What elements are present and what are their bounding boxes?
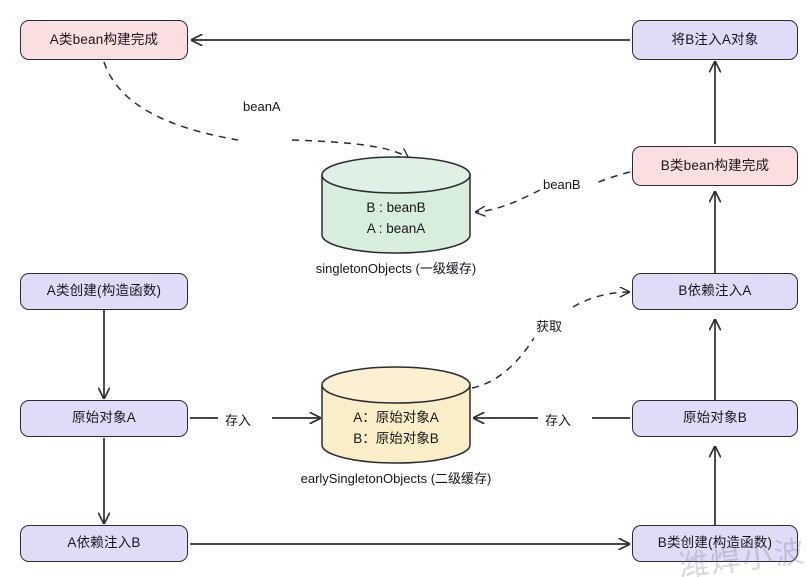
node-a-inject-b-label: A依赖注入B	[67, 535, 140, 551]
edge-beana-dash-seg1	[104, 62, 238, 140]
edge-fetch-dash-seg1	[472, 338, 534, 388]
singleton-objects-cylinder	[322, 157, 470, 253]
node-b-raw-label: 原始对象B	[683, 410, 747, 426]
singleton-entry-1: A : beanA	[322, 219, 470, 240]
node-a-raw-label: 原始对象A	[72, 410, 136, 426]
edge-label-bean-b: beanB	[543, 177, 581, 192]
edge-beana-dash-seg2	[292, 140, 408, 158]
edge-beanb-dash-seg1	[596, 172, 630, 183]
node-a-raw[interactable]: 原始对象A	[20, 400, 188, 437]
edge-label-fetch: 获取	[536, 316, 562, 335]
singleton-entry-0: B : beanB	[322, 198, 470, 219]
diagram-canvas: B : beanB A : beanA singletonObjects (一级…	[0, 0, 807, 577]
node-a-create[interactable]: A类创建(构造函数)	[20, 273, 188, 310]
early-singleton-entry-1: B：原始对象B	[322, 429, 470, 450]
edge-fetch-dash-seg2	[573, 292, 629, 307]
edge-label-store-left: 存入	[225, 410, 251, 429]
edge-beanb-dash-seg2	[476, 190, 540, 212]
node-a-inject-b[interactable]: A依赖注入B	[20, 525, 188, 562]
singleton-objects-caption: singletonObjects (一级缓存)	[296, 258, 496, 277]
singleton-objects-entries: B : beanB A : beanA	[322, 198, 470, 240]
node-a-bean-done-label: A类bean构建完成	[50, 32, 159, 48]
node-b-inject-a-label: B依赖注入A	[678, 283, 751, 299]
early-singleton-entry-0: A：原始对象A	[322, 408, 470, 429]
node-b-inject-a-object-label: 将B注入A对象	[672, 32, 759, 48]
edge-label-bean-a: beanA	[243, 99, 281, 114]
node-b-inject-a-object[interactable]: 将B注入A对象	[632, 20, 798, 60]
node-b-raw[interactable]: 原始对象B	[632, 400, 798, 437]
node-a-bean-done[interactable]: A类bean构建完成	[20, 20, 188, 60]
node-b-bean-done[interactable]: B类bean构建完成	[632, 146, 798, 186]
early-singleton-objects-cylinder	[322, 367, 470, 463]
early-singleton-objects-entries: A：原始对象A B：原始对象B	[322, 408, 470, 450]
node-b-inject-a[interactable]: B依赖注入A	[632, 273, 798, 310]
edge-label-store-right: 存入	[545, 410, 571, 429]
node-b-bean-done-label: B类bean构建完成	[661, 158, 770, 174]
node-a-create-label: A类创建(构造函数)	[47, 283, 162, 299]
early-singleton-objects-caption: earlySingletonObjects (二级缓存)	[276, 468, 516, 487]
